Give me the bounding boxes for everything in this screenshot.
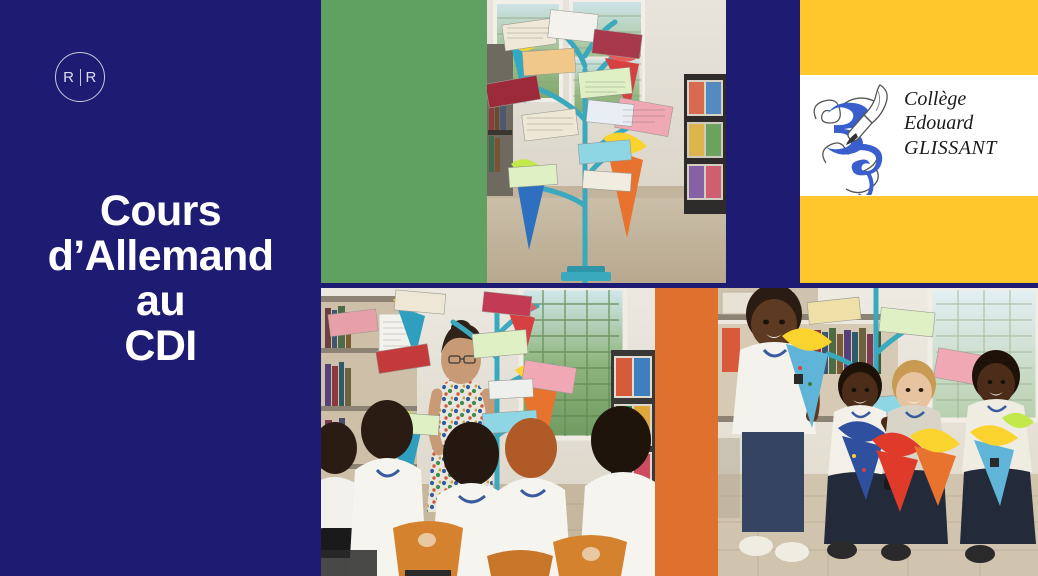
title-line-4: CDI [8, 325, 313, 368]
brand-logo-left-letter: R [63, 69, 74, 86]
photo-library-tree [487, 0, 726, 283]
eg-monogram-icon [806, 77, 906, 195]
brand-logo-letters: R R [63, 69, 97, 86]
brand-logo-rr-icon: R R [55, 52, 105, 102]
school-name-line-2: Edouard [904, 111, 1036, 135]
brand-logo-divider [80, 69, 81, 86]
decor-block-orange [655, 288, 718, 576]
photo-students-with-cones [718, 288, 1038, 576]
decor-block-green [321, 0, 487, 283]
school-name-line-3: GLISSANT [904, 136, 1036, 160]
title-line-1: Cours [8, 190, 313, 233]
title-line-2: d’Allemand [8, 235, 313, 278]
poster-canvas: Collège Edouard GLISSANT R R Cours d’All… [0, 0, 1038, 576]
school-logo-card: Collège Edouard GLISSANT [800, 75, 1038, 196]
school-name-line-1: Collège [904, 87, 1036, 111]
photo-classroom-presentation [321, 288, 655, 576]
school-name-text: Collège Edouard GLISSANT [904, 87, 1036, 160]
decor-block-navy-top [726, 0, 800, 283]
poster-title: Cours d’Allemand au CDI [0, 190, 321, 370]
brand-logo-right-letter: R [86, 69, 97, 86]
title-line-3: au [8, 280, 313, 323]
left-title-panel: R R Cours d’Allemand au CDI [0, 0, 321, 576]
